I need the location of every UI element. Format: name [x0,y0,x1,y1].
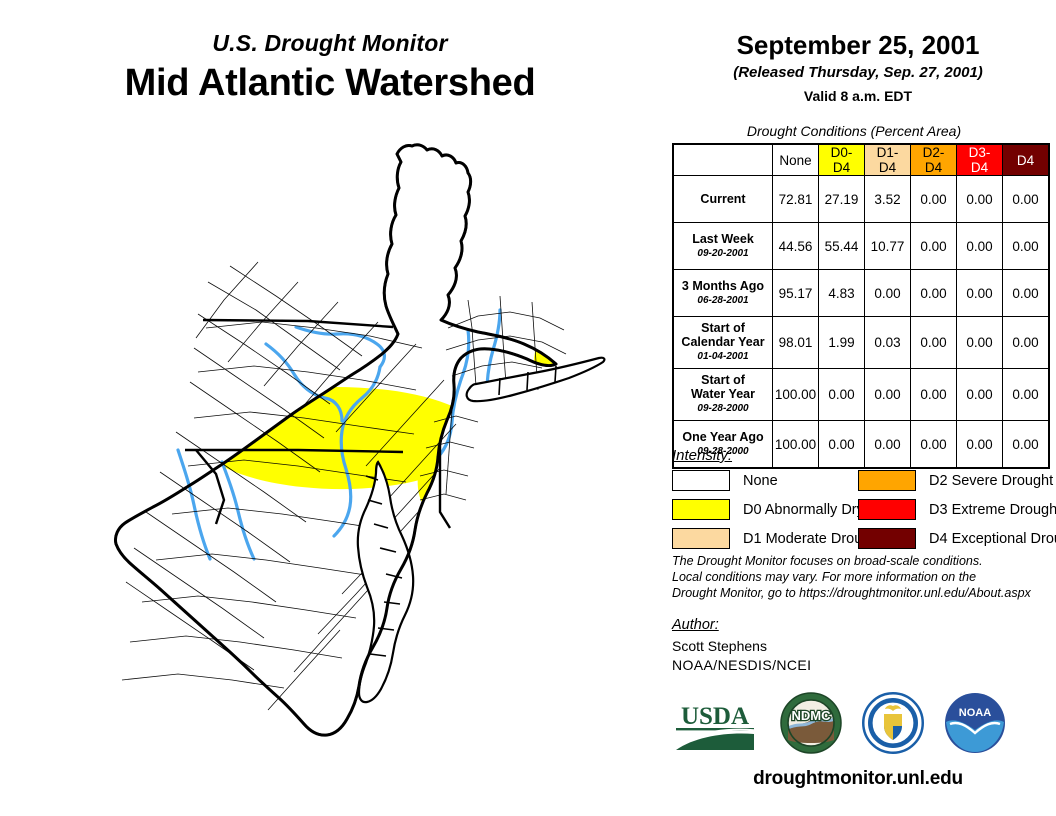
legend-item: D4 Exceptional Drought [858,526,1056,551]
table-caption: Drought Conditions (Percent Area) [660,123,1048,139]
table-row: Current72.8127.193.520.000.000.00 [673,176,1049,223]
noaa-wordmark: NOAA [959,707,991,719]
drought-conditions-table: NoneD0-D4D1-D4D2-D4D3-D4D4Current72.8127… [672,143,1050,469]
disclaimer-text: The Drought Monitor focuses on broad-sca… [672,553,1052,601]
cell-d1-d4: 0.00 [865,421,911,469]
cell-d1-d4: 0.03 [865,317,911,369]
cell-d3-d4: 0.00 [957,270,1003,317]
author-label: Author: [672,617,719,633]
table-row: Start ofWater Year09-28-2000100.000.000.… [673,369,1049,421]
legend-swatch-d1 [672,528,730,549]
author-organization: NOAA/NESDIS/NCEI [672,657,811,673]
disclaimer-line-1: The Drought Monitor focuses on broad-sca… [672,553,1052,569]
legend-item: D1 Moderate Drought [672,526,882,551]
table-row: Last Week09-20-200144.5655.4410.770.000.… [673,223,1049,270]
product-title: U.S. Drought Monitor [0,30,660,57]
legend-label: D2 Severe Drought [929,473,1053,489]
row-date: 09-28-2000 [677,402,769,416]
table-corner-cell [673,144,773,176]
legend-swatch-d2 [858,470,916,491]
author-name: Scott Stephens [672,638,767,654]
legend-label: D3 Extreme Drought [929,502,1056,518]
legend-column-right: D2 Severe DroughtD3 Extreme DroughtD4 Ex… [858,468,1056,555]
cell-d0-d4: 55.44 [819,223,865,270]
legend-swatch-d4 [858,528,916,549]
cell-d3-d4: 0.00 [957,223,1003,270]
valid-time: Valid 8 a.m. EDT [660,88,1056,104]
row-label-line: Calendar Year [677,335,769,349]
legend-label: None [743,473,778,489]
cell-d0-d4: 0.00 [819,421,865,469]
drought-map[interactable] [48,132,648,772]
cell-d2-d4: 0.00 [911,369,957,421]
row-label-line: Last Week [677,232,769,246]
cell-d1-d4: 3.52 [865,176,911,223]
cell-d2-d4: 0.00 [911,176,957,223]
row-label-line: Water Year [677,387,769,401]
cell-d0-d4: 27.19 [819,176,865,223]
table-row: Start ofCalendar Year01-04-200198.011.99… [673,317,1049,369]
legend-item: None [672,468,882,493]
ndmc-wordmark: NDMC [792,708,832,723]
legend-item: D3 Extreme Drought [858,497,1056,522]
legend-label: D0 Abnormally Dry [743,502,864,518]
row-date: 09-20-2001 [677,247,769,261]
row-label-start-of-water-year: Start ofWater Year09-28-2000 [673,369,773,421]
legend-swatch-d3 [858,499,916,520]
info-panel: September 25, 2001 (Released Thursday, S… [660,0,1056,816]
column-header-d1-d4: D1-D4 [865,144,911,176]
cell-d3-d4: 0.00 [957,421,1003,469]
cell-d2-d4: 0.00 [911,270,957,317]
row-label-3-months-ago: 3 Months Ago06-28-2001 [673,270,773,317]
legend-item: D2 Severe Drought [858,468,1056,493]
legend-label: D4 Exceptional Drought [929,531,1056,547]
cell-none: 100.00 [773,369,819,421]
column-header-d4: D4 [1003,144,1050,176]
map-panel: U.S. Drought Monitor Mid Atlantic Waters… [0,0,660,816]
column-header-d3-d4: D3-D4 [957,144,1003,176]
cell-d4: 0.00 [1003,270,1050,317]
row-label-current: Current [673,176,773,223]
usdc-seal[interactable] [862,692,924,754]
usda-wordmark: USDA [681,703,749,730]
legend-swatch-d0 [672,499,730,520]
released-date: (Released Thursday, Sep. 27, 2001) [660,64,1056,81]
legend-column-left: NoneD0 Abnormally DryD1 Moderate Drought [672,468,882,555]
cell-none: 98.01 [773,317,819,369]
cell-none: 72.81 [773,176,819,223]
cell-d2-d4: 0.00 [911,317,957,369]
cell-d4: 0.00 [1003,421,1050,469]
cell-d3-d4: 0.00 [957,369,1003,421]
row-label-line: One Year Ago [677,430,769,444]
valid-date: September 25, 2001 [660,30,1056,61]
cell-d1-d4: 10.77 [865,223,911,270]
row-label-line: Current [677,192,769,206]
row-label-last-week: Last Week09-20-2001 [673,223,773,270]
page-title: Mid Atlantic Watershed [0,62,660,105]
table-header-row: NoneD0-D4D1-D4D2-D4D3-D4D4 [673,144,1049,176]
row-label-start-of-calendar-year: Start ofCalendar Year01-04-2001 [673,317,773,369]
intensity-label: Intensity: [672,447,732,464]
cell-d2-d4: 0.00 [911,223,957,270]
disclaimer-line-2: Local conditions may vary. For more info… [672,569,1052,585]
cell-d1-d4: 0.00 [865,369,911,421]
disclaimer-line-3: Drought Monitor, go to https://droughtmo… [672,585,1052,601]
cell-d4: 0.00 [1003,176,1050,223]
site-url[interactable]: droughtmonitor.unl.edu [660,768,1056,790]
logo-row: USDA NDMC [660,690,1056,762]
cell-d3-d4: 0.00 [957,317,1003,369]
row-date: 06-28-2001 [677,294,769,308]
usda-logo[interactable]: USDA [672,698,758,754]
cell-d4: 0.00 [1003,223,1050,270]
column-header-d0-d4: D0-D4 [819,144,865,176]
cell-none: 100.00 [773,421,819,469]
cell-d0-d4: 0.00 [819,369,865,421]
cell-d3-d4: 0.00 [957,176,1003,223]
row-label-line: Start of [677,321,769,335]
cell-d4: 0.00 [1003,317,1050,369]
row-label-line: 3 Months Ago [677,279,769,293]
row-date: 01-04-2001 [677,350,769,364]
noaa-logo[interactable]: NOAA [944,692,1006,754]
cell-none: 95.17 [773,270,819,317]
cell-d2-d4: 0.00 [911,421,957,469]
table-row: 3 Months Ago06-28-200195.174.830.000.000… [673,270,1049,317]
legend-swatch-none [672,470,730,491]
cell-none: 44.56 [773,223,819,270]
table-body: NoneD0-D4D1-D4D2-D4D3-D4D4Current72.8127… [673,144,1049,468]
column-header-d2-d4: D2-D4 [911,144,957,176]
cell-d1-d4: 0.00 [865,270,911,317]
column-header-none: None [773,144,819,176]
cell-d4: 0.00 [1003,369,1050,421]
row-label-line: Start of [677,373,769,387]
cell-d0-d4: 4.83 [819,270,865,317]
cell-d0-d4: 1.99 [819,317,865,369]
legend-item: D0 Abnormally Dry [672,497,882,522]
ndmc-logo[interactable]: NDMC [780,692,842,754]
